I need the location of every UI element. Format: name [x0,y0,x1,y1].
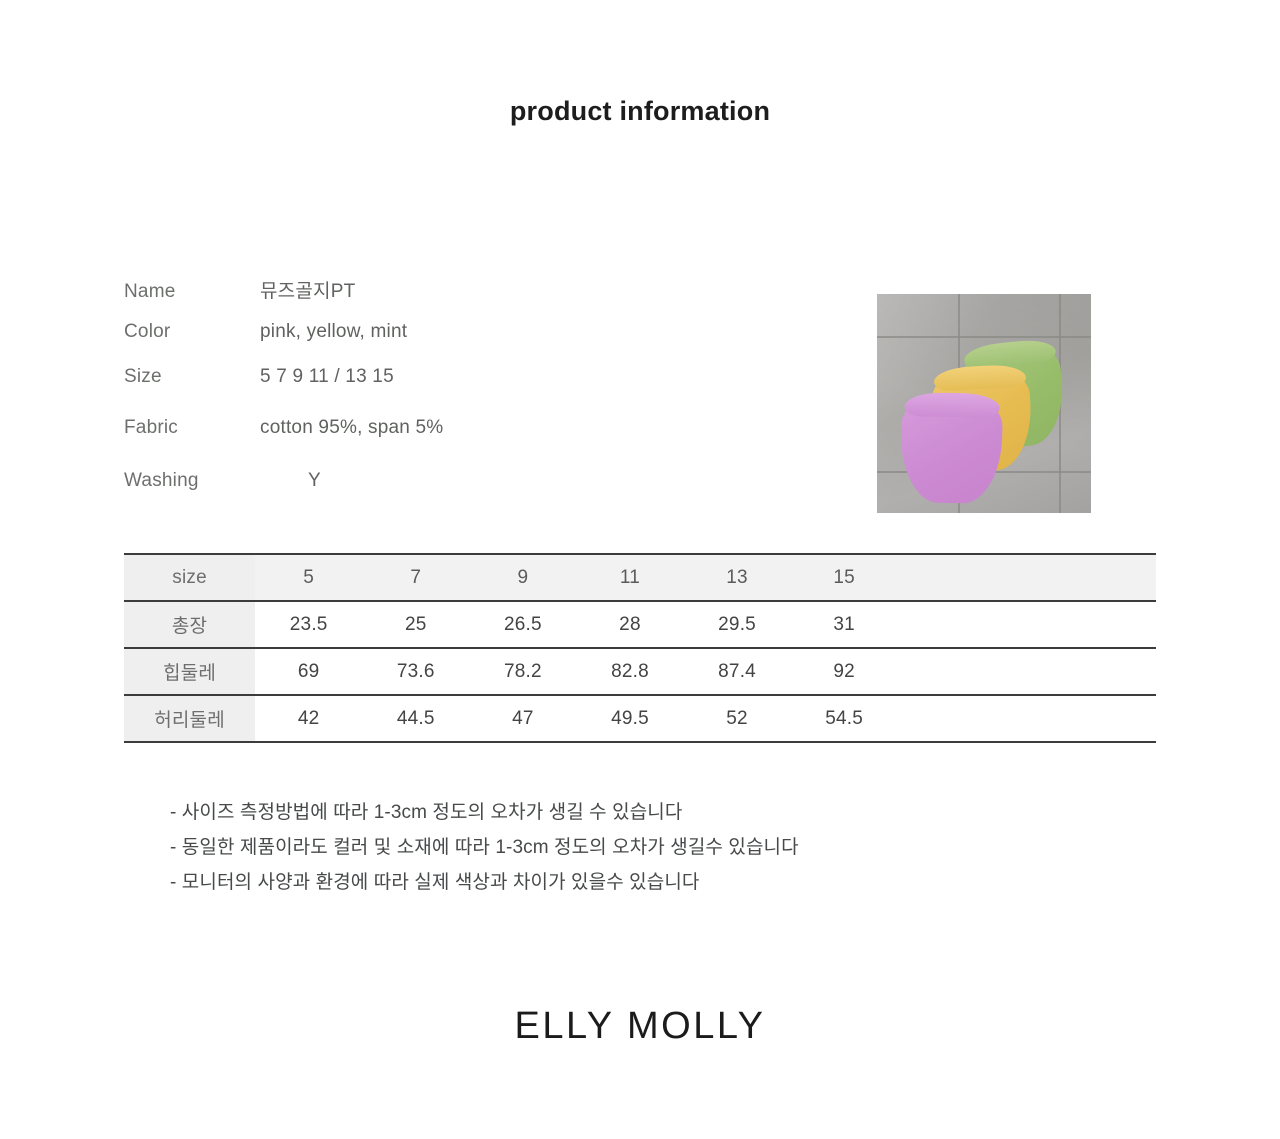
table-header-15: 15 [791,554,898,601]
table-header-5: 5 [255,554,362,601]
cell-hip-13: 87.4 [684,648,791,695]
spec-value-name: 뮤즈골지PT [260,276,355,303]
spec-value-color: pink, yellow, mint [260,321,407,343]
cell-hip-empty [898,648,1156,695]
table-row: 힙둘레 69 73.6 78.2 82.8 87.4 92 [124,648,1156,695]
cell-total-length-7: 25 [362,601,469,648]
table-header-row: size 5 7 9 11 13 15 [124,554,1156,601]
row-label-hip: 힙둘레 [124,648,255,695]
brand-logo: ELLY MOLLY [0,1005,1280,1048]
spec-row-color: Color pink, yellow, mint [124,321,724,366]
cell-total-length-5: 23.5 [255,601,362,648]
cell-hip-9: 78.2 [469,648,576,695]
shorts-waistband [904,392,999,418]
cell-total-length-11: 28 [576,601,683,648]
cell-hip-5: 69 [255,648,362,695]
cell-hip-11: 82.8 [576,648,683,695]
table-header-9: 9 [469,554,576,601]
disclaimer-notes: - 사이즈 측정방법에 따라 1-3cm 정도의 오차가 생길 수 있습니다 -… [170,795,1070,900]
spec-label-size: Size [124,366,260,388]
shorts-pink [900,392,1002,503]
table-row: 허리둘레 42 44.5 47 49.5 52 54.5 [124,695,1156,742]
spec-label-color: Color [124,321,260,343]
spec-label-name: Name [124,281,260,303]
note-line-monitor: - 모니터의 사양과 환경에 따라 실제 색상과 차이가 있을수 있습니다 [170,865,1070,900]
spec-row-size: Size 5 7 9 11 / 13 15 [124,366,724,411]
spec-value-size: 5 7 9 11 / 13 15 [260,366,394,388]
spec-value-washing: Y [260,470,321,492]
cell-waist-13: 52 [684,695,791,742]
spec-value-fabric: cotton 95%, span 5% [260,417,443,439]
cell-total-length-13: 29.5 [684,601,791,648]
cell-total-length-empty [898,601,1156,648]
cell-waist-15: 54.5 [791,695,898,742]
tile-grout-line [877,336,1091,338]
row-label-total-length: 총장 [124,601,255,648]
product-photo [877,294,1091,513]
spec-label-fabric: Fabric [124,417,260,439]
table-header-11: 11 [576,554,683,601]
cell-total-length-9: 26.5 [469,601,576,648]
cell-waist-empty [898,695,1156,742]
cell-waist-5: 42 [255,695,362,742]
note-line-material: - 동일한 제품이라도 컬러 및 소재에 따라 1-3cm 정도의 오차가 생길… [170,830,1070,865]
cell-hip-15: 92 [791,648,898,695]
size-chart-table: size 5 7 9 11 13 15 총장 23.5 25 26.5 28 2… [124,553,1156,743]
row-label-waist: 허리둘레 [124,695,255,742]
table-header-13: 13 [684,554,791,601]
table-row: 총장 23.5 25 26.5 28 29.5 31 [124,601,1156,648]
note-line-measurement: - 사이즈 측정방법에 따라 1-3cm 정도의 오차가 생길 수 있습니다 [170,795,1070,830]
spec-row-name: Name 뮤즈골지PT [124,276,724,321]
spec-label-washing: Washing [124,470,260,492]
table-header-7: 7 [362,554,469,601]
cell-waist-9: 47 [469,695,576,742]
page-title: product information [0,96,1280,127]
spec-row-fabric: Fabric cotton 95%, span 5% [124,417,724,462]
table-header-size: size [124,554,255,601]
table-header-empty [898,554,1156,601]
cell-total-length-15: 31 [791,601,898,648]
cell-waist-11: 49.5 [576,695,683,742]
cell-hip-7: 73.6 [362,648,469,695]
cell-waist-7: 44.5 [362,695,469,742]
product-spec-list: Name 뮤즈골지PT Color pink, yellow, mint Siz… [124,276,724,515]
spec-row-washing: Washing Y [124,470,724,515]
